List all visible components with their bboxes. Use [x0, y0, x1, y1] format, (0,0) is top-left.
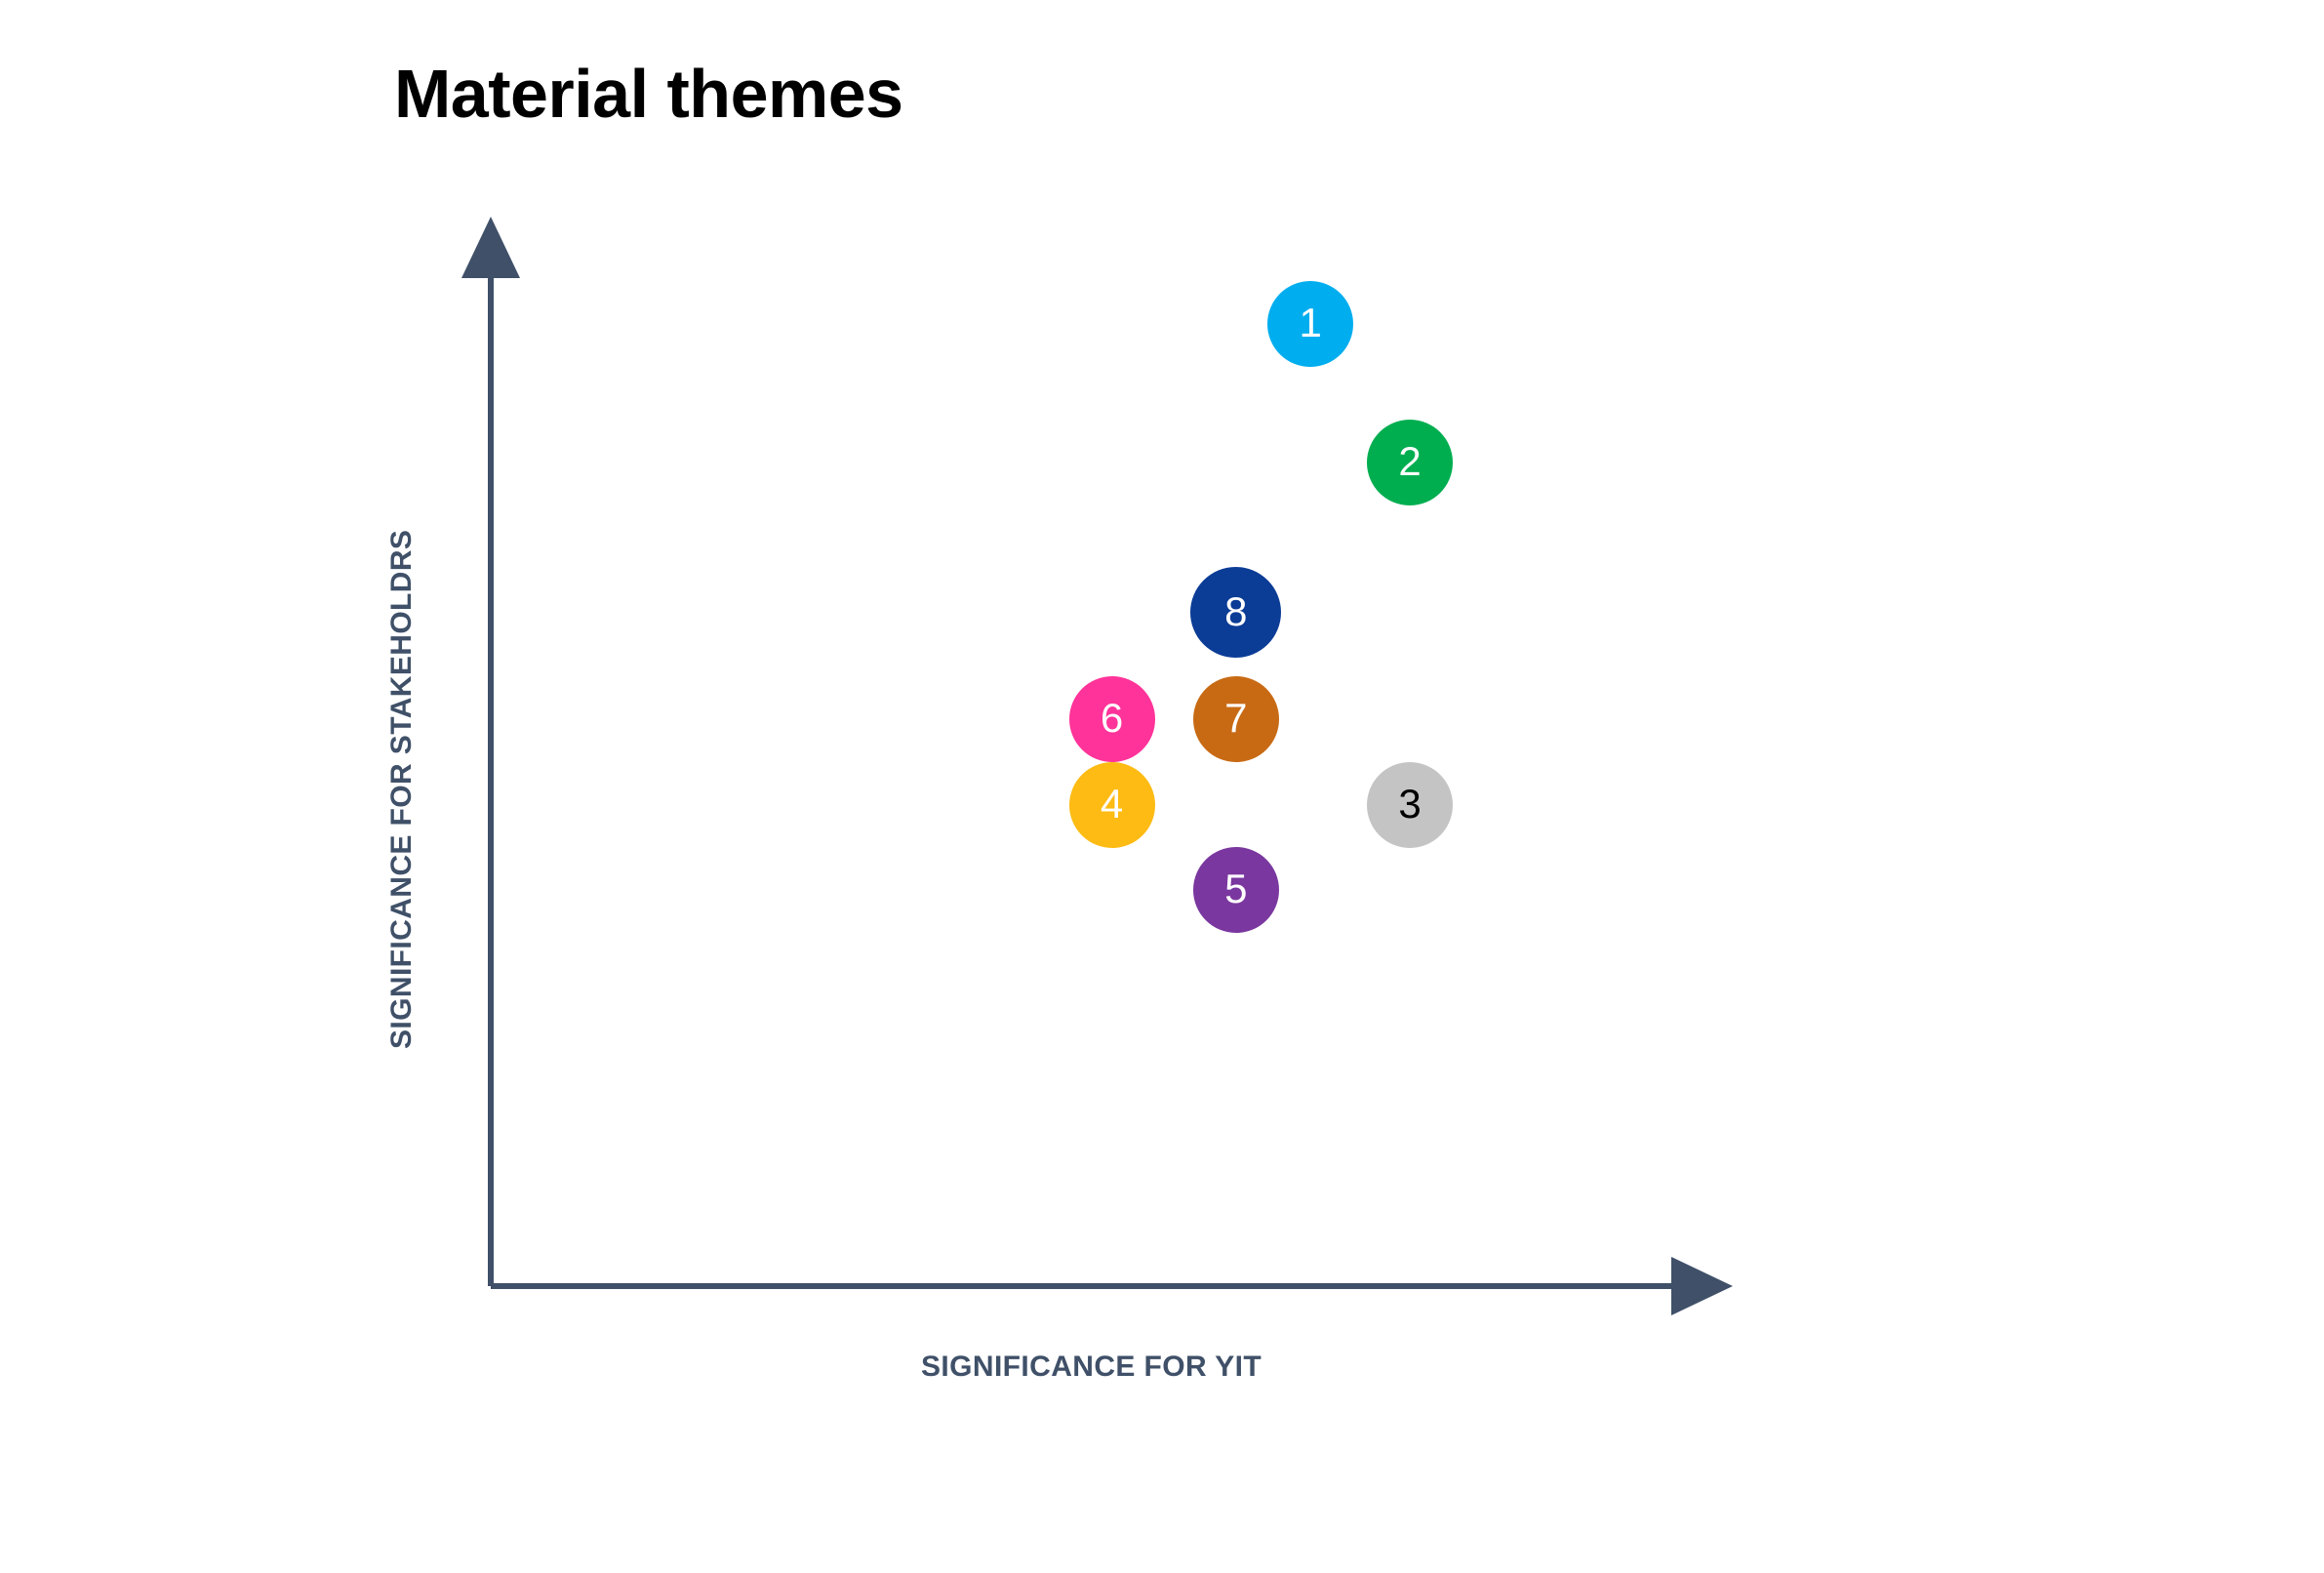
bubble-label: 2 [1398, 441, 1421, 482]
bubble-label: 1 [1299, 302, 1321, 343]
x-axis-label: SIGNIFICANCE FOR YIT [921, 1351, 1262, 1384]
bubble-label: 7 [1224, 698, 1247, 739]
bubble-5[interactable]: 5 [1193, 847, 1279, 933]
chart-axes [0, 0, 2324, 1573]
slide-canvas: Material themes SIGNIFICANCE FOR STAKEHO… [0, 0, 2324, 1573]
bubble-3[interactable]: 3 [1367, 762, 1453, 848]
bubble-4[interactable]: 4 [1069, 762, 1155, 848]
bubble-2[interactable]: 2 [1367, 420, 1453, 505]
bubble-label: 5 [1224, 868, 1247, 909]
bubble-7[interactable]: 7 [1193, 676, 1279, 762]
bubble-label: 4 [1101, 784, 1123, 825]
bubble-6[interactable]: 6 [1069, 676, 1155, 762]
bubble-label: 3 [1398, 784, 1421, 825]
y-axis-label: SIGNIFICANCE FOR STAKEHOLDRS [385, 530, 419, 1049]
bubble-label: 8 [1224, 591, 1247, 632]
bubble-label: 6 [1101, 698, 1123, 739]
bubble-8[interactable]: 8 [1190, 567, 1281, 658]
y-axis-arrowhead [461, 217, 520, 278]
x-axis-arrowhead [1671, 1257, 1733, 1315]
bubble-1[interactable]: 1 [1267, 281, 1353, 367]
page-title: Material themes [394, 55, 903, 134]
